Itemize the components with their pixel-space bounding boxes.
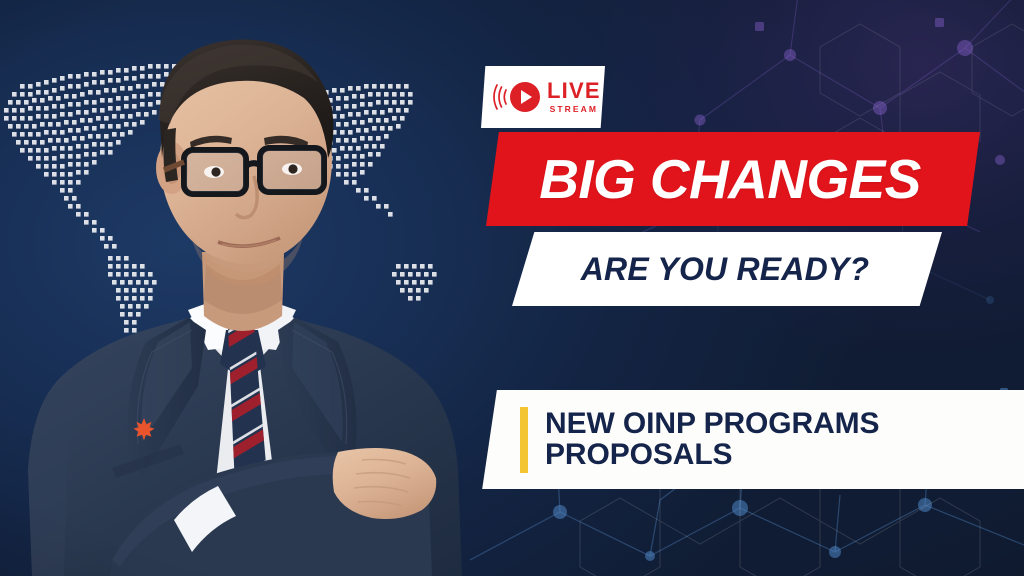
livestream-thumbnail: LIVE STREAM BIG CHANGES ARE YOU READY? N…: [0, 0, 1024, 576]
live-stream-badge[interactable]: LIVE STREAM: [481, 66, 605, 128]
footer-line-1: NEW OINP PROGRAMS: [545, 409, 879, 440]
subheadline-band: ARE YOU READY?: [512, 232, 942, 306]
headline-band: BIG CHANGES: [486, 132, 980, 226]
sound-waves-icon: [493, 82, 509, 112]
stream-label: STREAM: [547, 105, 601, 114]
live-label: LIVE: [547, 80, 601, 102]
play-button-icon: [510, 82, 540, 112]
footer-band: NEW OINP PROGRAMS PROPOSALS: [480, 390, 1024, 489]
headline-text: BIG CHANGES: [486, 147, 980, 211]
play-triangle-icon: [521, 90, 532, 104]
footer-text: NEW OINP PROGRAMS PROPOSALS: [545, 409, 879, 470]
subheadline-text: ARE YOU READY?: [581, 251, 873, 288]
live-badge-text: LIVE STREAM: [547, 80, 601, 114]
footer-line-2: PROPOSALS: [545, 440, 879, 471]
accent-bar: [520, 407, 528, 473]
